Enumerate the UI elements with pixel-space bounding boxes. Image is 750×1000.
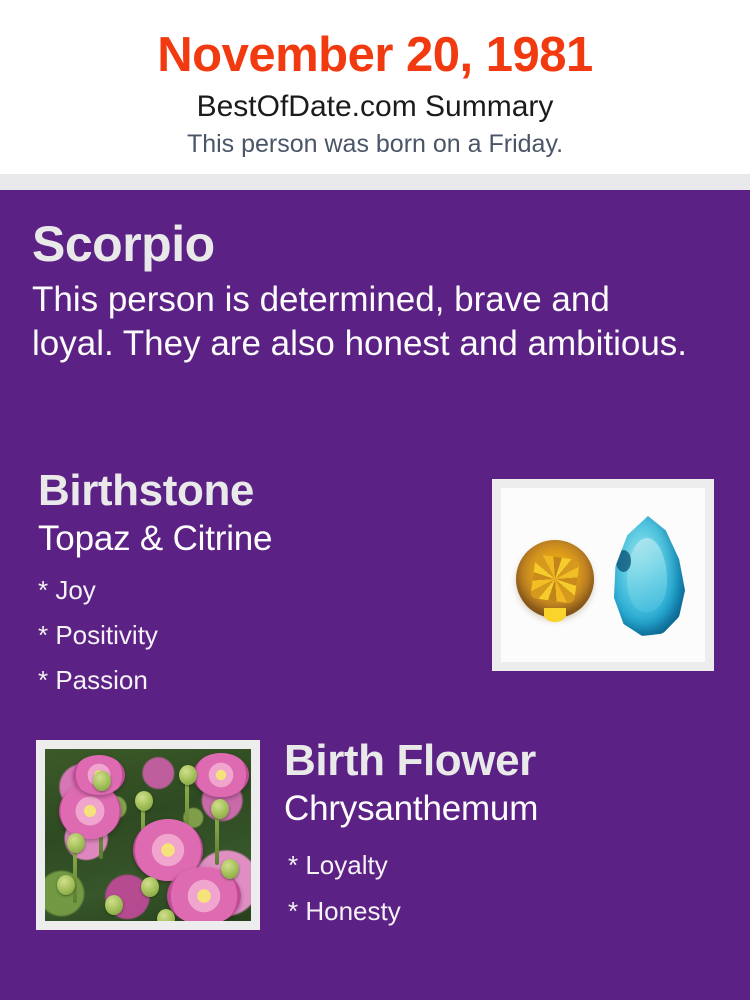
topaz-gem-icon: [611, 516, 685, 636]
flower-bud: [179, 765, 197, 785]
citrine-gem-icon: [516, 540, 594, 618]
birthstone-image-frame: [492, 479, 714, 671]
flower-stem: [215, 813, 219, 865]
list-item: * Passion: [38, 658, 478, 703]
birth-flower-section: Birth Flower Chrysanthemum * Loyalty * H…: [284, 735, 734, 934]
flower-bud: [141, 877, 159, 897]
flower-stem: [73, 845, 77, 903]
page-title-date: November 20, 1981: [0, 0, 750, 84]
content-panel: Scorpio This person is determined, brave…: [0, 190, 750, 1000]
list-item: * Joy: [38, 568, 478, 613]
list-item: * Positivity: [38, 613, 478, 658]
birth-flower-trait-list: * Loyalty * Honesty: [284, 830, 734, 934]
flower-bud: [93, 771, 111, 791]
flower-bud: [135, 791, 153, 811]
birth-flower-name: Chrysanthemum: [284, 787, 734, 830]
birth-flower-image-frame: [36, 740, 260, 930]
birthstone-image: [501, 488, 705, 662]
zodiac-sign-title: Scorpio: [32, 216, 712, 272]
birth-flower-image: [45, 749, 251, 921]
birthstone-name: Topaz & Citrine: [38, 517, 478, 560]
birthstone-section: Birthstone Topaz & Citrine * Joy * Posit…: [38, 465, 478, 703]
birth-flower-title: Birth Flower: [284, 735, 734, 787]
card-header: November 20, 1981 BestOfDate.com Summary…: [0, 0, 750, 174]
list-item: * Loyalty: [288, 842, 734, 888]
header-divider: [0, 174, 750, 190]
flower-bud: [221, 859, 239, 879]
site-name-label: BestOfDate.com Summary: [0, 84, 750, 126]
birthstone-trait-list: * Joy * Positivity * Passion: [38, 560, 478, 703]
zodiac-section: Scorpio This person is determined, brave…: [32, 216, 712, 366]
birthstone-title: Birthstone: [38, 465, 478, 517]
date-summary-card: November 20, 1981 BestOfDate.com Summary…: [0, 0, 750, 1000]
list-item: * Honesty: [288, 888, 734, 934]
chrysanthemum-bloom: [193, 753, 249, 797]
flower-bud: [105, 895, 123, 915]
zodiac-description: This person is determined, brave and loy…: [32, 272, 697, 366]
flower-bud: [67, 833, 85, 853]
flower-bud: [211, 799, 229, 819]
weekday-note: This person was born on a Friday.: [0, 126, 750, 160]
flower-bud: [57, 875, 75, 895]
